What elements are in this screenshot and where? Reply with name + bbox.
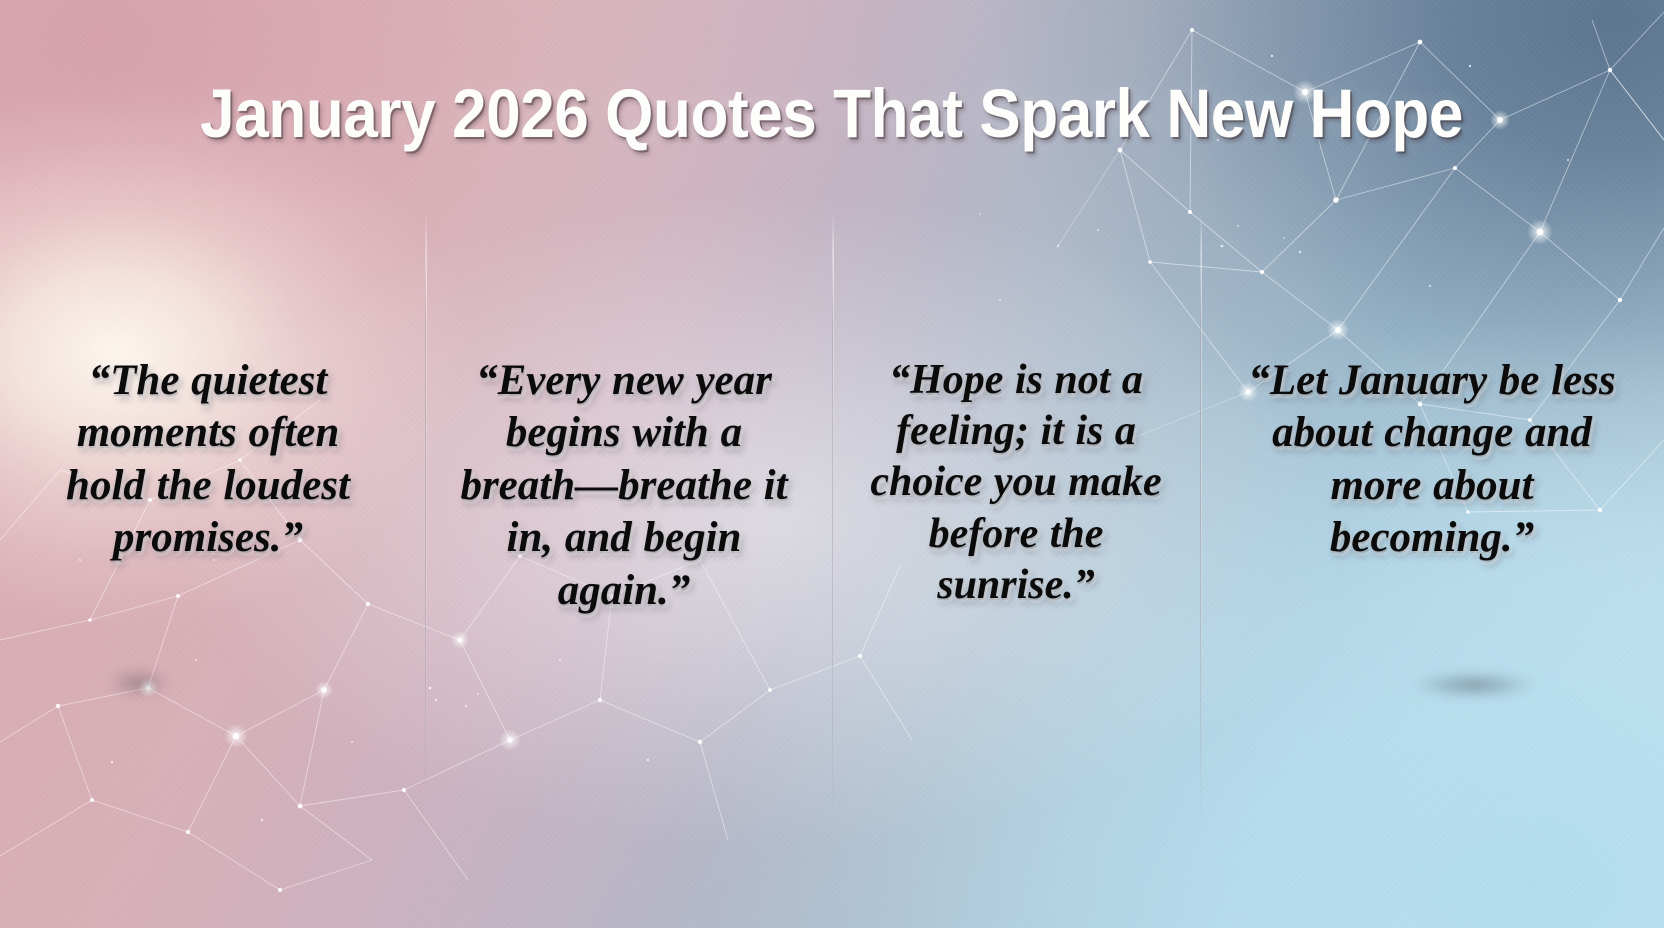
quote-text-2: “Every new year begins with a breath—bre…	[422, 355, 826, 617]
quote-text-4: “Let January be less about change and mo…	[1206, 355, 1658, 565]
poster-canvas: January 2026 Quotes That Spark New Hope …	[0, 0, 1664, 928]
quote-column-1: “The quietest moments often hold the lou…	[0, 355, 416, 617]
page-title-text: January 2026 Quotes That Spark New Hope	[201, 78, 1464, 150]
quote-column-3: “Hope is not a feeling; it is a choice y…	[832, 355, 1200, 617]
quote-column-2: “Every new year begins with a breath—bre…	[416, 355, 832, 617]
background-smudge-left	[108, 668, 170, 698]
quote-columns: “The quietest moments often hold the lou…	[0, 355, 1664, 617]
quote-column-4: “Let January be less about change and mo…	[1200, 355, 1664, 617]
page-title: January 2026 Quotes That Spark New Hope	[0, 78, 1664, 150]
background-smudge-right	[1414, 672, 1534, 698]
quote-text-1: “The quietest moments often hold the lou…	[6, 355, 410, 565]
quote-text-3: “Hope is not a feeling; it is a choice y…	[838, 355, 1194, 611]
